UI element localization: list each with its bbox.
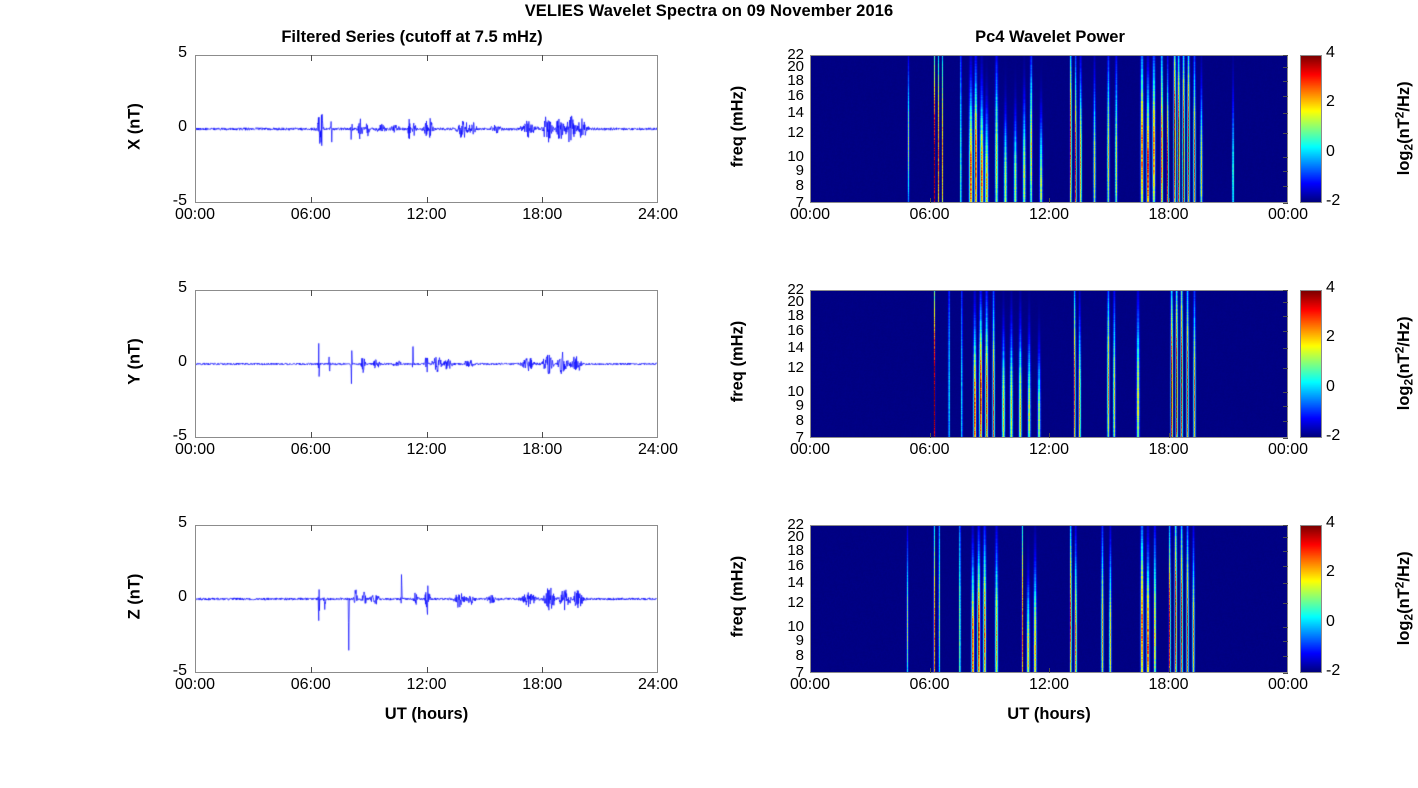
spectrogram-ytick-X-7: 9 bbox=[762, 163, 804, 178]
spectrogram-ytick-mark-X-0 bbox=[1283, 55, 1288, 56]
spectrogram-xtick-Y-3: 18:00 bbox=[1124, 441, 1214, 459]
colorbar-label-Z: log2(nT2/Hz) bbox=[1393, 508, 1416, 688]
spectrogram-image-X bbox=[811, 56, 1287, 202]
timeseries-xtick-mark-top-1 bbox=[311, 55, 312, 61]
spectrogram-ytick-mark-X-8 bbox=[1283, 186, 1288, 187]
spectrogram-ytick-mark-Y-7 bbox=[1283, 406, 1288, 407]
spectrogram-xtick-Z-3: 18:00 bbox=[1124, 676, 1214, 694]
colorbar-tick-Y-1: 2 bbox=[1326, 328, 1366, 346]
spectrogram-ytick-mark-X-4 bbox=[1283, 113, 1288, 114]
spectrogram-xtick-mark-3 bbox=[1169, 668, 1170, 673]
left-column-title: Filtered Series (cutoff at 7.5 mHz) bbox=[152, 28, 672, 47]
timeseries-xlabel: UT (hours) bbox=[195, 705, 658, 724]
spectrogram-ytick-mark-Z-7 bbox=[1283, 641, 1288, 642]
spectrogram-xtick-X-2: 12:00 bbox=[1004, 206, 1094, 224]
colorbar-tick-Y-3: -2 bbox=[1326, 427, 1366, 445]
colorbar-label-Y: log2(nT2/Hz) bbox=[1393, 273, 1416, 453]
colorbar-X bbox=[1300, 55, 1322, 203]
spectrogram-ylabel-X: freq (mHz) bbox=[729, 37, 748, 217]
timeseries-xtick-mark-3 bbox=[542, 667, 543, 673]
spectrogram-xtick-Y-1: 06:00 bbox=[885, 441, 975, 459]
colorbar-tick-Z-2: 0 bbox=[1326, 613, 1366, 631]
timeseries-xtick-X-2: 12:00 bbox=[382, 206, 472, 224]
spectrogram-ytick-mark-X-5 bbox=[1283, 133, 1288, 134]
timeseries-xtick-Y-2: 12:00 bbox=[382, 441, 472, 459]
spectrogram-image-Y bbox=[811, 291, 1287, 437]
spectrogram-ytick-mark-Y-9 bbox=[1283, 438, 1288, 439]
timeseries-xtick-mark-top-1 bbox=[311, 525, 312, 531]
spectrogram-ytick-Z-2: 18 bbox=[762, 543, 804, 558]
timeseries-xtick-X-1: 06:00 bbox=[266, 206, 356, 224]
spectrogram-xtick-X-4: 00:00 bbox=[1243, 206, 1333, 224]
colorbar-tick-Y-2: 0 bbox=[1326, 378, 1366, 396]
timeseries-ytick-Z-0: 5 bbox=[139, 514, 187, 532]
colorbar-tick-X-0: 4 bbox=[1326, 44, 1366, 62]
spectrogram-ytick-X-3: 16 bbox=[762, 88, 804, 103]
spectrogram-ytick-mark-X-7 bbox=[1283, 171, 1288, 172]
colorbar-gradient-X bbox=[1301, 56, 1321, 202]
timeseries-xtick-mark-top-3 bbox=[542, 290, 543, 296]
spectrogram-ytick-Y-3: 16 bbox=[762, 323, 804, 338]
spectrogram-xtick-mark-3 bbox=[1169, 433, 1170, 438]
timeseries-xtick-Z-3: 18:00 bbox=[497, 676, 587, 694]
colorbar-gradient-Y bbox=[1301, 291, 1321, 437]
timeseries-xtick-Y-0: 00:00 bbox=[150, 441, 240, 459]
figure-canvas: VELIES Wavelet Spectra on 09 November 20… bbox=[0, 0, 1418, 788]
spectrogram-ytick-Y-5: 12 bbox=[762, 360, 804, 375]
timeseries-xtick-mark-3 bbox=[542, 432, 543, 438]
timeseries-xtick-mark-top-2 bbox=[427, 525, 428, 531]
colorbar-Y bbox=[1300, 290, 1322, 438]
spectrogram-ytick-Z-7: 9 bbox=[762, 633, 804, 648]
timeseries-xtick-mark-top-3 bbox=[542, 55, 543, 61]
timeseries-ytick-Y-0: 5 bbox=[139, 279, 187, 297]
spectrogram-ytick-X-8: 8 bbox=[762, 178, 804, 193]
timeseries-xtick-mark-3 bbox=[542, 197, 543, 203]
spectrogram-ytick-Z-3: 16 bbox=[762, 558, 804, 573]
spectrogram-xtick-mark-2 bbox=[1049, 668, 1050, 673]
spectrogram-ytick-mark-Z-3 bbox=[1283, 566, 1288, 567]
timeseries-xtick-mark-2 bbox=[427, 197, 428, 203]
timeseries-ytick-Y-1: 0 bbox=[139, 353, 187, 371]
figure-title: VELIES Wavelet Spectra on 09 November 20… bbox=[0, 2, 1418, 21]
spectrogram-ytick-mark-Y-5 bbox=[1283, 368, 1288, 369]
timeseries-xtick-mark-2 bbox=[427, 432, 428, 438]
spectrogram-xtick-X-1: 06:00 bbox=[885, 206, 975, 224]
spectrogram-ytick-mark-Z-6 bbox=[1283, 627, 1288, 628]
timeseries-panel-Y bbox=[195, 290, 658, 438]
timeseries-xtick-Y-4: 24:00 bbox=[613, 441, 703, 459]
spectrogram-xtick-mark-2 bbox=[1049, 433, 1050, 438]
spectrogram-ytick-X-5: 12 bbox=[762, 125, 804, 140]
colorbar-tick-X-3: -2 bbox=[1326, 192, 1366, 210]
colorbar-gradient-Z bbox=[1301, 526, 1321, 672]
timeseries-xtick-Y-3: 18:00 bbox=[497, 441, 587, 459]
spectrogram-xtick-X-0: 00:00 bbox=[765, 206, 855, 224]
spectrogram-xtick-Z-4: 00:00 bbox=[1243, 676, 1333, 694]
spectrogram-xtick-mark-2 bbox=[1049, 198, 1050, 203]
spectrogram-ytick-mark-Z-1 bbox=[1283, 537, 1288, 538]
timeseries-xtick-mark-2 bbox=[427, 667, 428, 673]
timeseries-xtick-X-3: 18:00 bbox=[497, 206, 587, 224]
spectrogram-panel-X bbox=[810, 55, 1288, 203]
spectrogram-panel-Z bbox=[810, 525, 1288, 673]
spectrogram-ylabel-Y: freq (mHz) bbox=[729, 272, 748, 452]
spectrogram-ytick-mark-Y-0 bbox=[1283, 290, 1288, 291]
timeseries-xtick-mark-top-3 bbox=[542, 525, 543, 531]
timeseries-ytick-X-1: 0 bbox=[139, 118, 187, 136]
colorbar-tick-X-2: 0 bbox=[1326, 143, 1366, 161]
spectrogram-ytick-mark-Z-0 bbox=[1283, 525, 1288, 526]
colorbar-tick-Z-3: -2 bbox=[1326, 662, 1366, 680]
colorbar-tick-Z-0: 4 bbox=[1326, 514, 1366, 532]
timeseries-xtick-Z-2: 12:00 bbox=[382, 676, 472, 694]
spectrogram-xtick-Y-0: 00:00 bbox=[765, 441, 855, 459]
spectrogram-xtick-mark-1 bbox=[930, 198, 931, 203]
spectrogram-ytick-mark-X-6 bbox=[1283, 157, 1288, 158]
colorbar-tick-X-1: 2 bbox=[1326, 93, 1366, 111]
spectrogram-ytick-mark-X-2 bbox=[1283, 81, 1288, 82]
spectrogram-ytick-mark-Z-4 bbox=[1283, 583, 1288, 584]
timeseries-xtick-mark-1 bbox=[311, 432, 312, 438]
spectrogram-ytick-mark-Z-5 bbox=[1283, 603, 1288, 604]
spectrogram-ylabel-Z: freq (mHz) bbox=[729, 507, 748, 687]
timeseries-trace-Y bbox=[196, 291, 657, 437]
spectrogram-ytick-X-4: 14 bbox=[762, 105, 804, 120]
spectrogram-ytick-Y-8: 8 bbox=[762, 413, 804, 428]
spectrogram-xtick-X-3: 18:00 bbox=[1124, 206, 1214, 224]
timeseries-xtick-X-4: 24:00 bbox=[613, 206, 703, 224]
spectrogram-ytick-mark-X-9 bbox=[1283, 203, 1288, 204]
spectrogram-ytick-mark-Z-2 bbox=[1283, 551, 1288, 552]
spectrogram-ytick-mark-Y-6 bbox=[1283, 392, 1288, 393]
spectrogram-xtick-Z-2: 12:00 bbox=[1004, 676, 1094, 694]
spectrogram-xtick-mark-3 bbox=[1169, 198, 1170, 203]
colorbar-Z bbox=[1300, 525, 1322, 673]
spectrogram-ytick-Y-7: 9 bbox=[762, 398, 804, 413]
spectrogram-xtick-Z-1: 06:00 bbox=[885, 676, 975, 694]
timeseries-xtick-mark-top-2 bbox=[427, 290, 428, 296]
spectrogram-ytick-Y-4: 14 bbox=[762, 340, 804, 355]
spectrogram-ytick-mark-Z-8 bbox=[1283, 656, 1288, 657]
timeseries-xtick-Z-1: 06:00 bbox=[266, 676, 356, 694]
timeseries-trace-Z bbox=[196, 526, 657, 672]
timeseries-xtick-Z-0: 00:00 bbox=[150, 676, 240, 694]
timeseries-xtick-mark-1 bbox=[311, 197, 312, 203]
spectrogram-ytick-mark-Z-9 bbox=[1283, 673, 1288, 674]
timeseries-trace-X bbox=[196, 56, 657, 202]
spectrogram-ytick-mark-Y-3 bbox=[1283, 331, 1288, 332]
right-column-title: Pc4 Wavelet Power bbox=[790, 28, 1310, 47]
spectrogram-xtick-mark-1 bbox=[930, 668, 931, 673]
spectrogram-ytick-Z-5: 12 bbox=[762, 595, 804, 610]
colorbar-tick-Y-0: 4 bbox=[1326, 279, 1366, 297]
colorbar-label-X: log2(nT2/Hz) bbox=[1393, 38, 1416, 218]
timeseries-ytick-X-0: 5 bbox=[139, 44, 187, 62]
spectrogram-ytick-mark-Y-2 bbox=[1283, 316, 1288, 317]
spectrogram-xtick-mark-1 bbox=[930, 433, 931, 438]
spectrogram-ytick-mark-X-1 bbox=[1283, 67, 1288, 68]
timeseries-xtick-Z-4: 24:00 bbox=[613, 676, 703, 694]
spectrogram-image-Z bbox=[811, 526, 1287, 672]
spectrogram-ytick-Z-4: 14 bbox=[762, 575, 804, 590]
spectrogram-xtick-Y-4: 00:00 bbox=[1243, 441, 1333, 459]
timeseries-xtick-Y-1: 06:00 bbox=[266, 441, 356, 459]
spectrogram-ytick-mark-Y-4 bbox=[1283, 348, 1288, 349]
timeseries-xtick-mark-top-1 bbox=[311, 290, 312, 296]
spectrogram-ytick-Y-2: 18 bbox=[762, 308, 804, 323]
timeseries-xtick-X-0: 00:00 bbox=[150, 206, 240, 224]
colorbar-tick-Z-1: 2 bbox=[1326, 563, 1366, 581]
timeseries-panel-Z bbox=[195, 525, 658, 673]
spectrogram-panel-Y bbox=[810, 290, 1288, 438]
timeseries-ytick-Z-1: 0 bbox=[139, 588, 187, 606]
timeseries-xtick-mark-top-2 bbox=[427, 55, 428, 61]
spectrogram-ytick-Z-8: 8 bbox=[762, 648, 804, 663]
spectrogram-xlabel: UT (hours) bbox=[810, 705, 1288, 724]
spectrogram-xtick-Z-0: 00:00 bbox=[765, 676, 855, 694]
spectrogram-ytick-mark-Y-1 bbox=[1283, 302, 1288, 303]
spectrogram-xtick-Y-2: 12:00 bbox=[1004, 441, 1094, 459]
spectrogram-ytick-mark-Y-8 bbox=[1283, 421, 1288, 422]
timeseries-panel-X bbox=[195, 55, 658, 203]
timeseries-xtick-mark-1 bbox=[311, 667, 312, 673]
spectrogram-ytick-X-2: 18 bbox=[762, 73, 804, 88]
spectrogram-ytick-mark-X-3 bbox=[1283, 96, 1288, 97]
